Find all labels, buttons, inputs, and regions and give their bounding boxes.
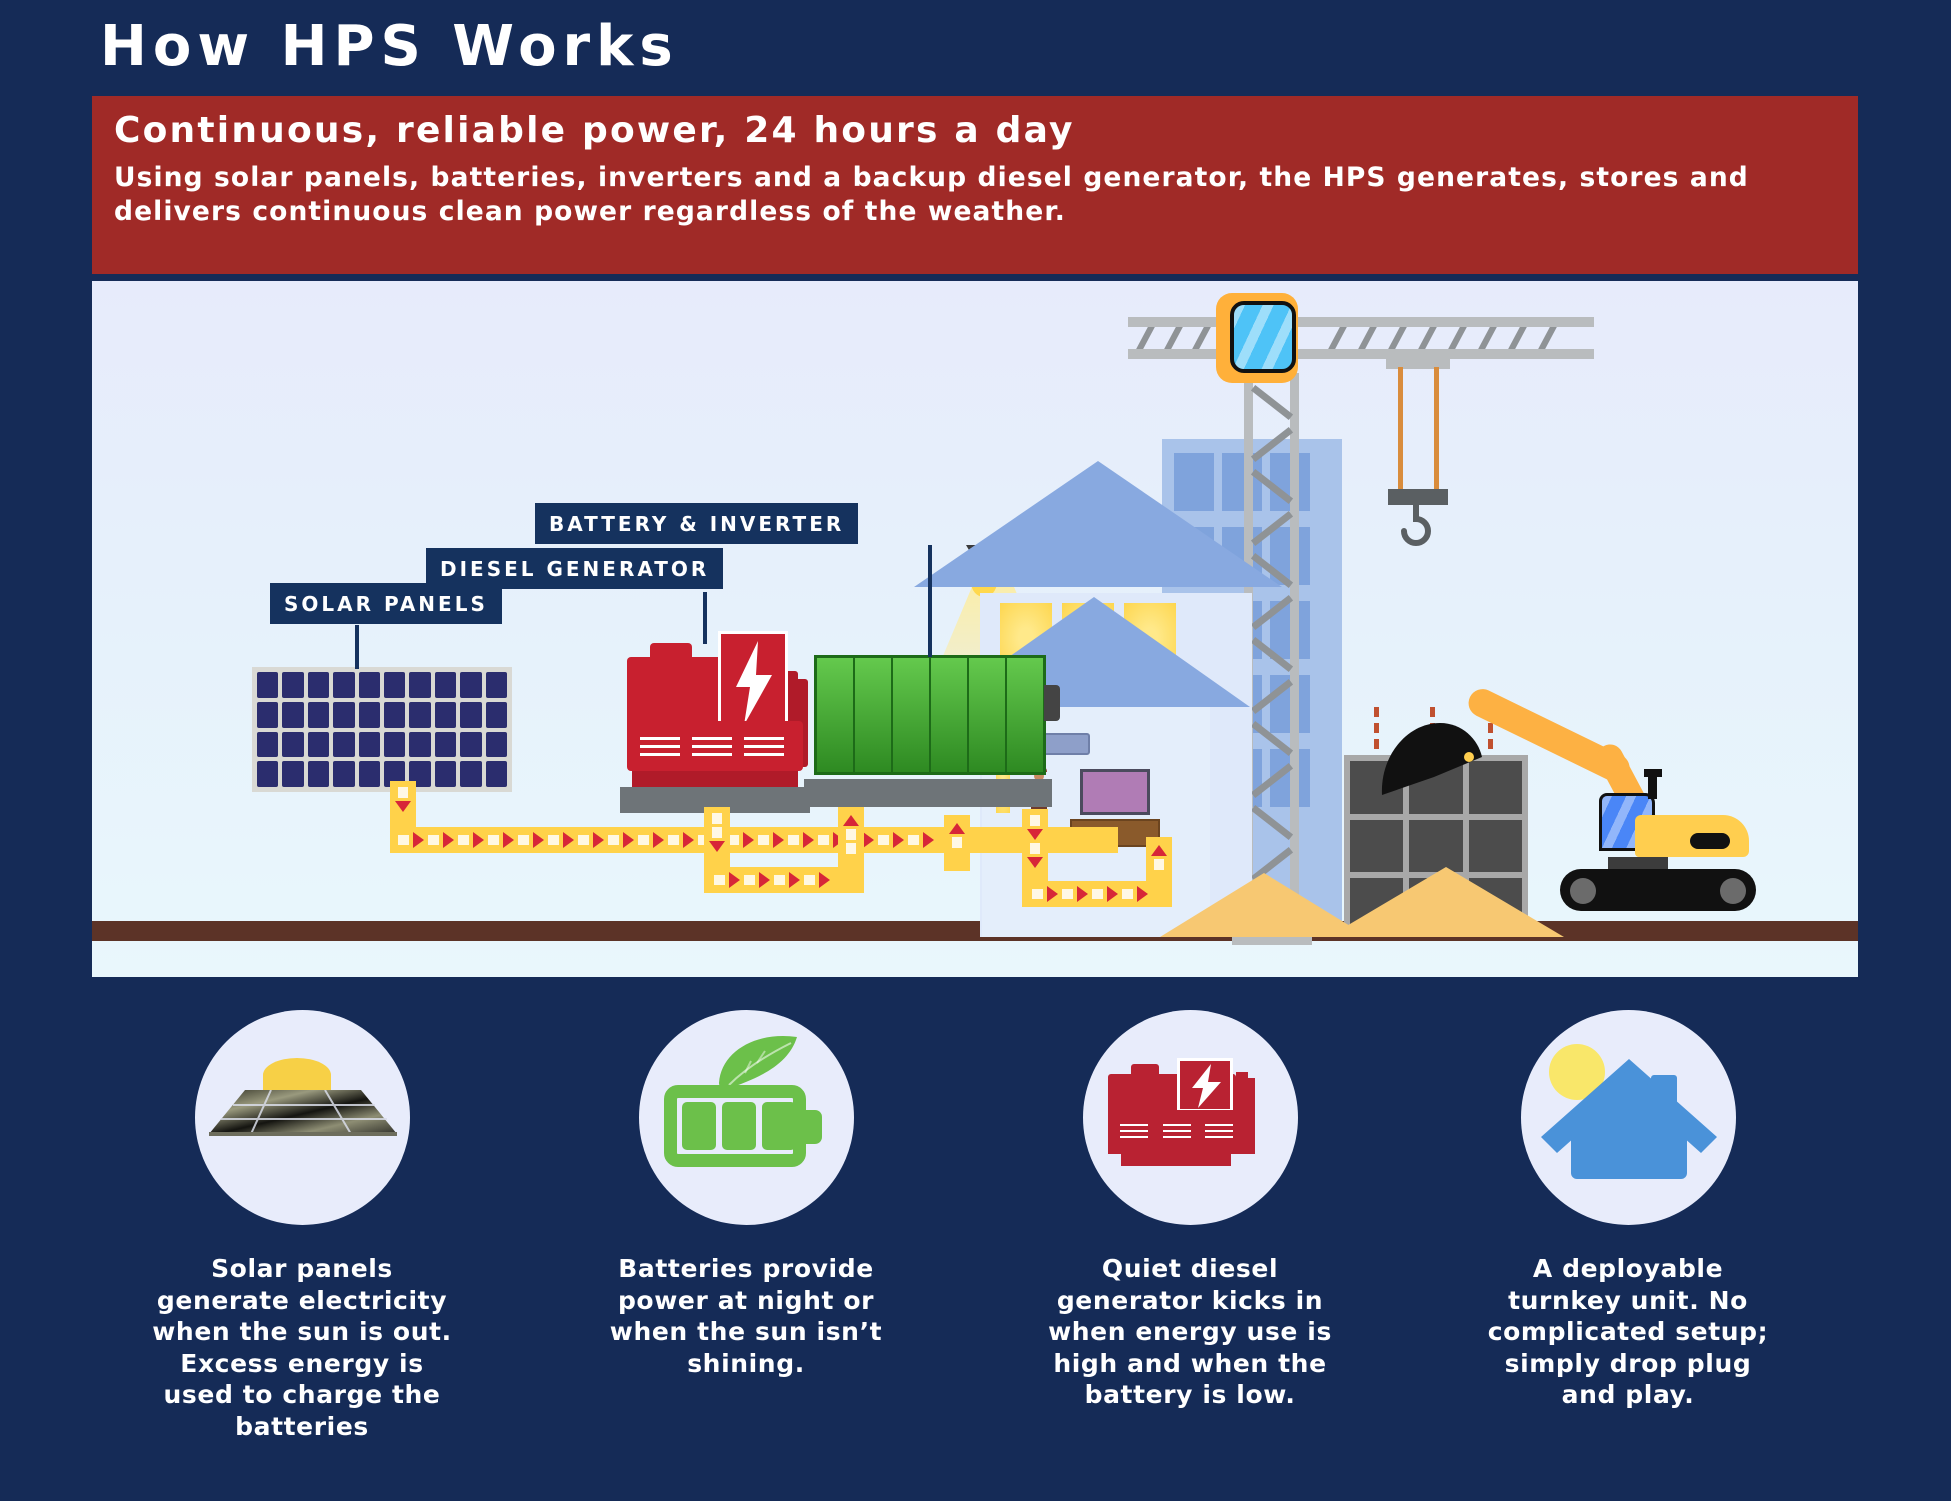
banner-headline: Continuous, reliable power, 24 hours a d…: [114, 110, 1836, 151]
generator-base: [1121, 1154, 1231, 1166]
arrow-right-icon: [729, 872, 740, 888]
solar-cell: [257, 761, 278, 787]
solar-cell: [308, 672, 329, 698]
solar-cell: [409, 732, 430, 758]
wire-dash: [744, 875, 755, 885]
solar-cell: [333, 761, 354, 787]
wire-arrows-gen-bus: [708, 867, 862, 893]
solar-cell: [460, 672, 481, 698]
wire-arrows-riser2: [944, 819, 970, 871]
excavator-exhaust-cap: [1644, 769, 1662, 777]
wire-dash: [758, 835, 769, 845]
wire-dash: [458, 835, 469, 845]
solar-cell: [384, 702, 405, 728]
wire-dash: [712, 827, 722, 838]
diesel-generator-icon: [1083, 1010, 1298, 1225]
arrow-right-icon: [789, 872, 800, 888]
wire-dash: [398, 787, 408, 798]
house-roof-upper: [914, 461, 1282, 587]
solar-cell: [308, 702, 329, 728]
crane-jib-brace: [1328, 327, 1347, 349]
crane-hook-icon: [1392, 503, 1440, 547]
solar-cell: [486, 732, 507, 758]
arrow-down-icon: [709, 841, 725, 852]
arrow-right-icon: [563, 832, 574, 848]
wire-dash: [578, 835, 589, 845]
crane-jib-brace: [1538, 327, 1557, 349]
arrow-right-icon: [443, 832, 454, 848]
wire-dash: [1032, 889, 1043, 899]
wire-dash: [548, 835, 559, 845]
wire-dash: [714, 875, 725, 885]
arrow-right-icon: [473, 832, 484, 848]
wire-dash: [878, 835, 889, 845]
generator-vent: [1205, 1124, 1233, 1126]
crane-cable: [1434, 367, 1439, 493]
arrow-right-icon: [1047, 886, 1058, 902]
generator-vent: [744, 737, 784, 740]
wire-arrows-bus: [392, 827, 1116, 853]
house-sun-icon: [1521, 1010, 1736, 1225]
wire-dash: [518, 835, 529, 845]
wire-dash: [788, 835, 799, 845]
illustration-panel: SOLAR PANELS DIESEL GENERATOR BATTERY & …: [92, 281, 1858, 977]
solar-cell: [257, 732, 278, 758]
battery-cell: [722, 1102, 756, 1150]
label-text: DIESEL GENERATOR: [440, 557, 709, 581]
crane-trolley: [1386, 355, 1450, 369]
arrow-right-icon: [503, 832, 514, 848]
feature-battery: Batteries provide power at night or when…: [596, 1010, 896, 1379]
feature-caption: Solar panels generate electricity when t…: [152, 1253, 452, 1442]
arrow-up-icon: [1151, 845, 1167, 856]
battery-base: [804, 779, 1052, 807]
solar-cell: [435, 702, 456, 728]
arrow-right-icon: [773, 832, 784, 848]
battery-cell: [762, 1102, 796, 1150]
arrow-right-icon: [893, 832, 904, 848]
battery-terminal: [1044, 685, 1060, 721]
feature-caption: Batteries provide power at night or when…: [596, 1253, 896, 1379]
generator-vent: [1163, 1136, 1191, 1138]
generator-vent: [1120, 1130, 1148, 1132]
lightning-bolt-icon: [1189, 1064, 1223, 1108]
solar-cell: [384, 732, 405, 758]
wire-dash: [818, 835, 829, 845]
label-solar-panels: SOLAR PANELS: [270, 583, 502, 624]
arrow-right-icon: [413, 832, 424, 848]
wire-dash: [428, 835, 439, 845]
wire-dash: [1122, 889, 1133, 899]
television: [1080, 769, 1150, 815]
wire-dash: [774, 875, 785, 885]
solar-cell: [384, 672, 405, 698]
arrow-right-icon: [759, 872, 770, 888]
crane-jib-brace: [1418, 327, 1437, 349]
label-diesel-generator: DIESEL GENERATOR: [426, 548, 723, 589]
battery-bank: [814, 655, 1046, 775]
solar-cell: [333, 732, 354, 758]
feature-solar: Solar panels generate electricity when t…: [152, 1010, 452, 1442]
wire-dash: [952, 837, 962, 848]
solar-cell: [282, 672, 303, 698]
crane-jib-brace: [1358, 327, 1377, 349]
solar-cell: [359, 672, 380, 698]
battery-cell: [893, 658, 931, 772]
solar-cell: [409, 672, 430, 698]
arrow-right-icon: [743, 832, 754, 848]
banner: Continuous, reliable power, 24 hours a d…: [92, 96, 1858, 274]
crane-jib-brace: [1192, 327, 1211, 349]
solar-cell: [333, 702, 354, 728]
battery-cell: [969, 658, 1007, 772]
solar-cell: [486, 761, 507, 787]
arrow-right-icon: [653, 832, 664, 848]
generator-vent: [692, 745, 732, 748]
crane-jib-brace: [1164, 327, 1183, 349]
generator-vent: [1163, 1124, 1191, 1126]
wire-dash: [1030, 843, 1040, 854]
generator-vent: [1205, 1136, 1233, 1138]
wire-dash: [608, 835, 619, 845]
crane-mast-brace: [1251, 385, 1293, 420]
solar-cell: [282, 761, 303, 787]
excavator-bucket-icon: [1374, 721, 1484, 795]
generator-vent: [744, 745, 784, 748]
arrow-right-icon: [1077, 886, 1088, 902]
wire-dash: [1154, 859, 1164, 870]
battery-cell: [1007, 658, 1043, 772]
generator-vent: [640, 737, 680, 740]
wire-dash: [846, 829, 856, 840]
sun-icon: [263, 1058, 331, 1092]
solar-cell: [257, 702, 278, 728]
sand-pile: [1328, 867, 1564, 937]
wire-dash: [804, 875, 815, 885]
arrow-down-icon: [395, 801, 411, 812]
eco-battery-leaf-icon: [639, 1010, 854, 1225]
lightning-bolt-icon: [732, 641, 776, 725]
generator-skirt: [632, 771, 798, 787]
solar-cell: [486, 702, 507, 728]
arrow-right-icon: [803, 832, 814, 848]
arrow-right-icon: [923, 832, 934, 848]
solar-cell: [333, 672, 354, 698]
wire-dash: [488, 835, 499, 845]
crane-cable: [1398, 367, 1403, 493]
solar-cell: [282, 732, 303, 758]
battery-cell: [817, 658, 855, 772]
solar-cell: [308, 761, 329, 787]
wire-arrows-house-down: [1022, 811, 1048, 881]
arrow-up-icon: [843, 815, 859, 826]
battery-terminal: [806, 1110, 822, 1144]
panel-icon: [209, 1090, 397, 1136]
arrow-down-icon: [1027, 857, 1043, 868]
wire-dash: [1092, 889, 1103, 899]
generator-lower: [1108, 1110, 1246, 1154]
excavator-undercarriage: [1608, 857, 1668, 869]
crane-jib-brace: [1388, 327, 1407, 349]
feature-caption: A deployable turnkey unit. No complicate…: [1478, 1253, 1778, 1411]
battery-cell: [682, 1102, 716, 1150]
solar-cell: [486, 672, 507, 698]
leaf-icon: [717, 1035, 799, 1091]
label-battery-inverter: BATTERY & INVERTER: [535, 503, 858, 544]
wire-arrows-gen-down: [704, 809, 730, 867]
generator-vent: [640, 753, 680, 756]
crane-cab-window: [1230, 301, 1296, 373]
crane-jib-bottom: [1128, 349, 1594, 359]
wire-dash: [846, 843, 856, 854]
crane-jib-brace: [1478, 327, 1497, 349]
arrow-down-icon: [1027, 829, 1043, 840]
battery-cell: [931, 658, 969, 772]
label-leader-solar: [355, 625, 359, 669]
generator-vent: [692, 753, 732, 756]
excavator-wheel: [1720, 878, 1746, 904]
arrow-right-icon: [533, 832, 544, 848]
label-text: SOLAR PANELS: [284, 592, 488, 616]
wire-dash: [1062, 889, 1073, 899]
banner-body-text: Using solar panels, batteries, inverters…: [114, 161, 1836, 229]
arrow-right-icon: [1107, 886, 1118, 902]
feature-house: A deployable turnkey unit. No complicate…: [1478, 1010, 1778, 1411]
solar-cell: [460, 702, 481, 728]
infographic-page: How HPS Works Continuous, reliable power…: [0, 0, 1951, 1501]
ground-strip: [92, 921, 1858, 941]
excavator-wheel: [1570, 878, 1596, 904]
arrow-right-icon: [623, 832, 634, 848]
generator-fin: [1246, 1078, 1255, 1154]
label-leader-generator: [703, 592, 707, 644]
wire-dash: [668, 835, 679, 845]
crane-jib-brace: [1448, 327, 1467, 349]
frame-cell: [1409, 820, 1462, 873]
page-title: How HPS Works: [100, 14, 679, 79]
solar-cell: [359, 761, 380, 787]
generator-vent: [1205, 1130, 1233, 1132]
wire-arrows-down: [390, 783, 416, 829]
wire-dash: [1030, 815, 1040, 826]
wire-arrows-batt-up: [838, 811, 864, 867]
solar-cell: [460, 761, 481, 787]
generator-vent: [1163, 1130, 1191, 1132]
crane-jib-brace: [1508, 327, 1527, 349]
solar-cell: [460, 732, 481, 758]
house-icon: [1535, 1055, 1723, 1180]
label-text: BATTERY & INVERTER: [549, 512, 844, 536]
generator-vent: [744, 753, 784, 756]
wire-dash: [908, 835, 919, 845]
wire-arrows-house-riser: [1146, 841, 1172, 883]
arrow-right-icon: [683, 832, 694, 848]
excavator-vent: [1690, 833, 1730, 849]
generator-vent: [1120, 1136, 1148, 1138]
solar-cell: [359, 732, 380, 758]
feature-generator: Quiet diesel generator kicks in when ene…: [1040, 1010, 1340, 1411]
frame-cell: [1350, 820, 1403, 873]
wire-dash: [712, 813, 722, 824]
crane-jib-brace: [1136, 327, 1155, 349]
arrow-right-icon: [863, 832, 874, 848]
label-leader-battery: [928, 545, 932, 657]
crane-jib-top: [1128, 317, 1594, 327]
solar-cell: [435, 732, 456, 758]
arrow-right-icon: [819, 872, 830, 888]
solar-cell: [282, 702, 303, 728]
wire-arrows-house: [1026, 881, 1170, 907]
solar-panel-sun-icon: [195, 1010, 410, 1225]
feature-caption: Quiet diesel generator kicks in when ene…: [1040, 1253, 1340, 1411]
solar-array: [252, 667, 512, 792]
solar-cell: [359, 702, 380, 728]
solar-cell: [435, 761, 456, 787]
wire-dash: [638, 835, 649, 845]
arrow-up-icon: [949, 823, 965, 834]
solar-cell: [409, 702, 430, 728]
wire-dash: [398, 835, 409, 845]
battery-cell: [855, 658, 893, 772]
solar-cell: [435, 672, 456, 698]
frame-cell: [1469, 820, 1522, 873]
solar-cell: [257, 672, 278, 698]
solar-cell: [308, 732, 329, 758]
arrow-right-icon: [593, 832, 604, 848]
arrow-right-icon: [1137, 886, 1148, 902]
generator-vent: [692, 737, 732, 740]
generator-vent: [640, 745, 680, 748]
generator-vent: [1120, 1124, 1148, 1126]
